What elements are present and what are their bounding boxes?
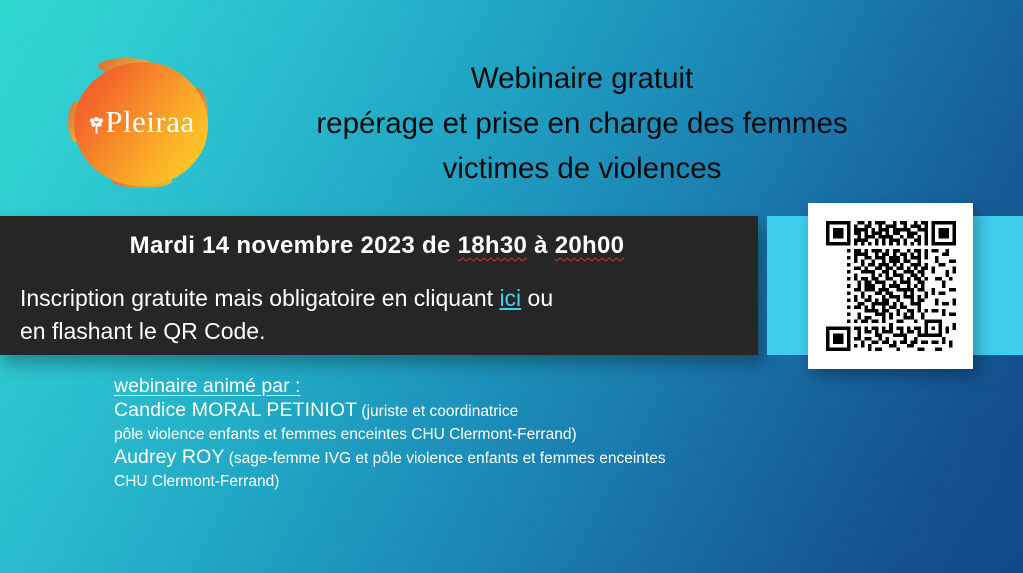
registration-line-1: Inscription gratuite mais obligatoire en… bbox=[20, 282, 746, 315]
qr-code-card[interactable] bbox=[808, 203, 973, 369]
registration-text-after: ou bbox=[521, 285, 553, 311]
logo-wordmark-wrap: Pleiraa bbox=[68, 106, 216, 137]
info-band: Mardi 14 novembre 2023 de 18h30 à 20h00 … bbox=[0, 216, 758, 355]
brand-logo: Pleiraa bbox=[68, 58, 216, 190]
qr-code-icon[interactable] bbox=[826, 221, 956, 351]
registration-text: Inscription gratuite mais obligatoire en… bbox=[20, 282, 746, 348]
title-line-1: Webinaire gratuit bbox=[232, 56, 932, 101]
tree-icon bbox=[89, 108, 104, 125]
presenters-block: webinaire animé par : Candice MORAL PETI… bbox=[114, 374, 814, 493]
presenter-2: Audrey ROY (sage-femme IVG et pôle viole… bbox=[114, 446, 814, 470]
presenter-1-role: (juriste et coordinatrice bbox=[357, 403, 518, 420]
presenter-2-name: Audrey ROY bbox=[114, 446, 224, 468]
title-line-3: victimes de violences bbox=[232, 146, 932, 191]
time-start: 18h30 bbox=[458, 232, 528, 259]
event-datetime: Mardi 14 novembre 2023 de 18h30 à 20h00 bbox=[0, 232, 758, 260]
presenter-2-role-continued: CHU Clermont-Ferrand) bbox=[114, 470, 814, 493]
registration-link[interactable]: ici bbox=[499, 285, 521, 311]
registration-text-before: Inscription gratuite mais obligatoire en… bbox=[20, 285, 499, 311]
presenter-1-role-continued: pôle violence enfants et femmes enceinte… bbox=[114, 423, 814, 446]
presenter-2-role: (sage-femme IVG et pôle violence enfants… bbox=[224, 450, 665, 467]
presenter-1-name: Candice MORAL PETINIOT bbox=[114, 399, 357, 421]
logo-wordmark: Pleiraa bbox=[105, 104, 195, 139]
title-line-2: repérage et prise en charge des femmes bbox=[232, 101, 932, 146]
presenter-1: Candice MORAL PETINIOT (juriste et coord… bbox=[114, 399, 814, 423]
presenters-heading: webinaire animé par : bbox=[114, 374, 814, 399]
date-prefix: Mardi 14 novembre 2023 de bbox=[130, 232, 458, 259]
date-middle: à bbox=[527, 232, 555, 259]
poster-title: Webinaire gratuit repérage et prise en c… bbox=[232, 56, 932, 191]
time-end: 20h00 bbox=[555, 232, 625, 259]
webinar-poster: Pleiraa Webinaire gratuit repérage et pr… bbox=[0, 0, 1023, 573]
registration-line-2: en flashant le QR Code. bbox=[20, 315, 746, 348]
